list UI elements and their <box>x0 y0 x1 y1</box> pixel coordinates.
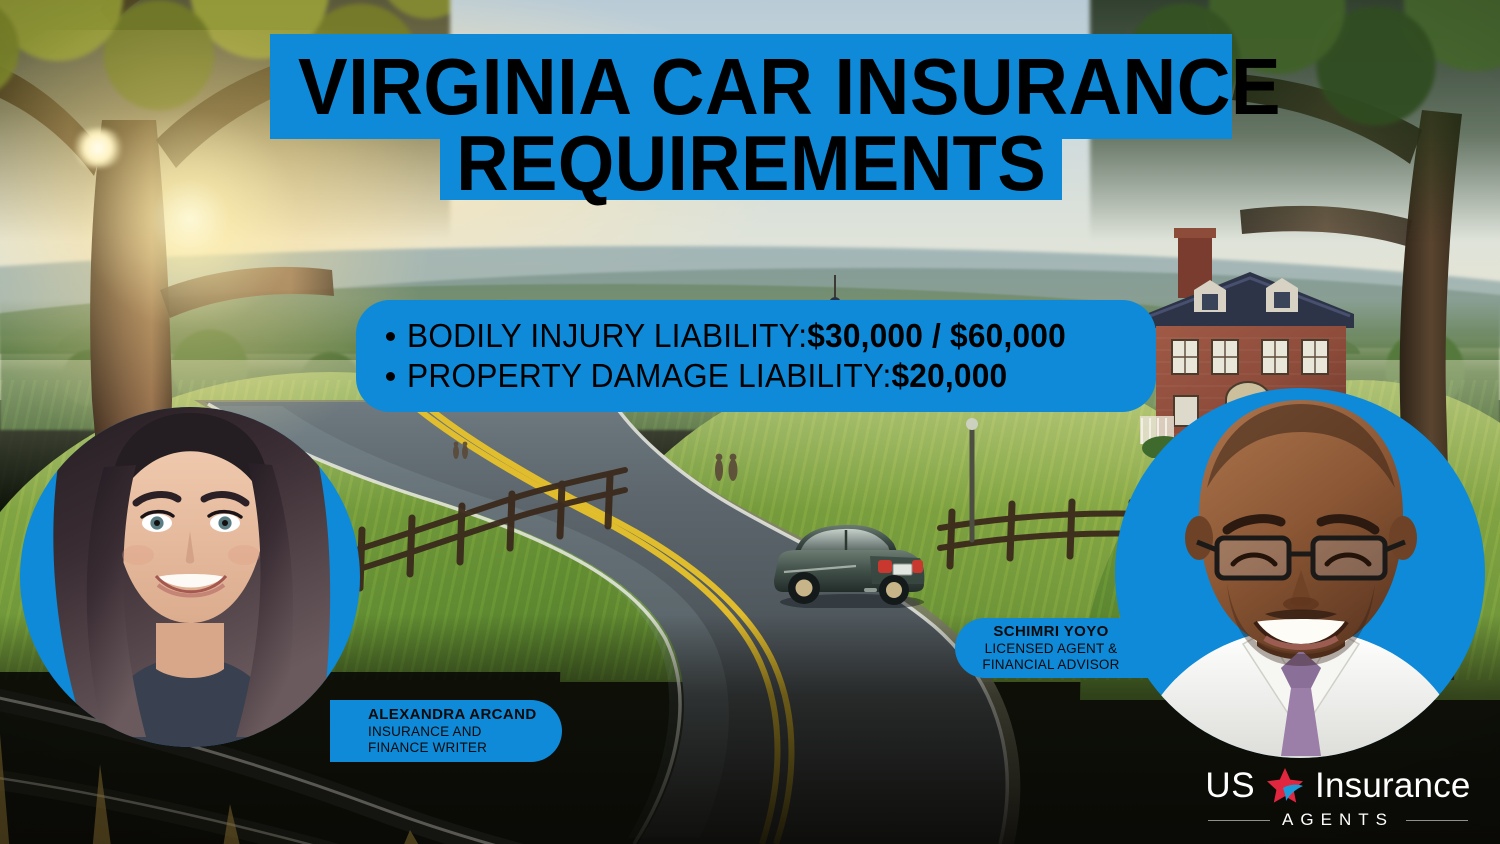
person-role-line2: FINANCIAL ADVISOR <box>982 657 1119 673</box>
page-title-line2: REQUIREMENTS <box>456 124 1046 202</box>
bullet-dot-icon <box>386 332 395 341</box>
car-on-road <box>760 508 935 608</box>
person-badge-schimri-yoyo: SCHIMRI YOYO LICENSED AGENT & FINANCIAL … <box>955 618 1177 678</box>
person-name: ALEXANDRA ARCAND <box>368 706 537 724</box>
person-role-line1: INSURANCE AND <box>368 724 482 740</box>
avatar <box>20 407 360 747</box>
infographic-canvas: VIRGINIA CAR INSURANCE REQUIREMENTS BODI… <box>0 0 1500 844</box>
person-role-line2: FINANCE WRITER <box>368 740 487 756</box>
requirement-label: BODILY INJURY LIABILITY: <box>407 317 807 354</box>
page-title-line1: VIRGINIA CAR INSURANCE <box>298 47 1281 127</box>
brand-logo[interactable]: US Insurance AGENTS <box>1192 764 1484 836</box>
title-band-line2: REQUIREMENTS <box>440 125 1062 200</box>
requirement-value: $20,000 <box>891 357 1007 394</box>
logo-rule-right <box>1406 820 1468 821</box>
requirement-value: $30,000 / $60,000 <box>807 317 1066 354</box>
logo-word-us: US <box>1205 766 1255 806</box>
requirement-label: PROPERTY DAMAGE LIABILITY: <box>407 357 891 394</box>
logo-rule-left <box>1208 820 1270 821</box>
person-role-line1: LICENSED AGENT & <box>985 641 1118 657</box>
person-badge-alexandra-arcand: ALEXANDRA ARCAND INSURANCE AND FINANCE W… <box>330 700 562 762</box>
star-icon <box>1265 767 1305 805</box>
requirements-card: BODILY INJURY LIABILITY:$30,000 / $60,00… <box>356 300 1156 412</box>
person-name: SCHIMRI YOYO <box>993 623 1108 641</box>
bullet-dot-icon <box>386 372 395 381</box>
avatar <box>1115 388 1485 758</box>
logo-word-insurance: Insurance <box>1315 766 1471 806</box>
list-item: BODILY INJURY LIABILITY:$30,000 / $60,00… <box>380 317 1126 355</box>
logo-subtitle: AGENTS <box>1282 810 1394 830</box>
list-item: PROPERTY DAMAGE LIABILITY:$20,000 <box>380 357 1126 395</box>
